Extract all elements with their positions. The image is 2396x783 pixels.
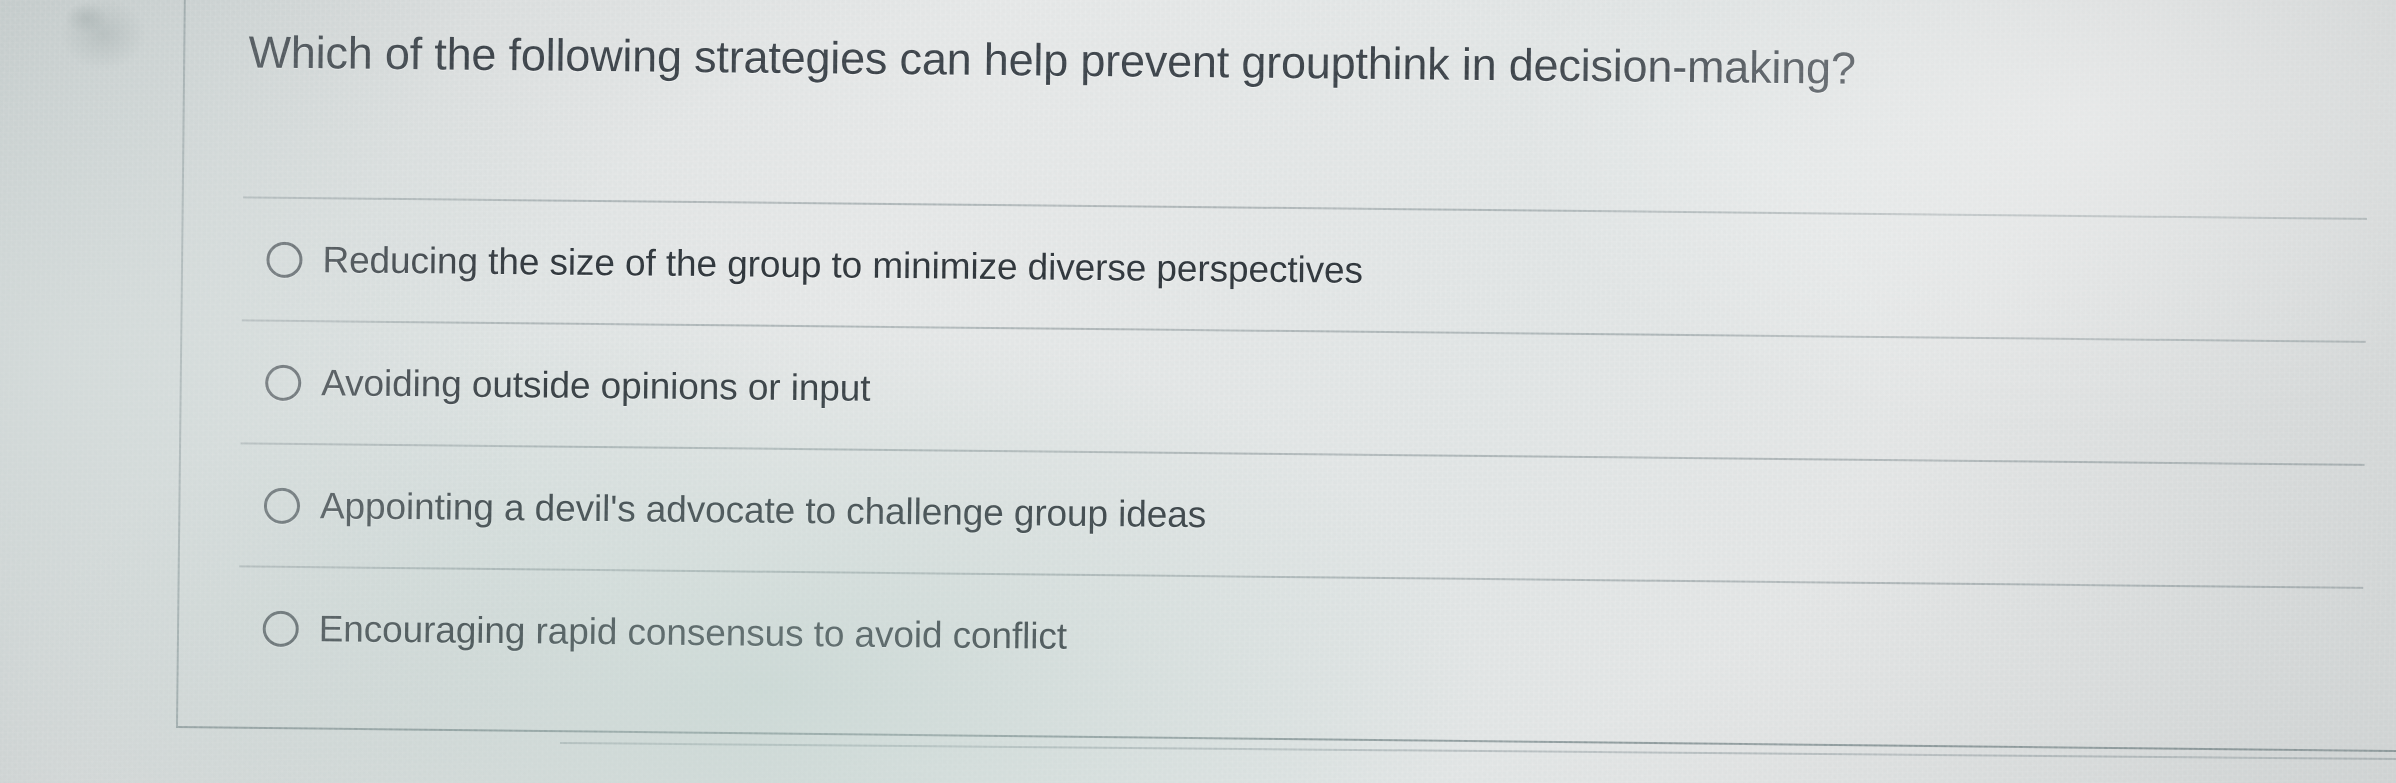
radio-button-icon-a[interactable] <box>266 241 302 277</box>
radio-button-icon-d[interactable] <box>263 610 299 646</box>
answer-option-b[interactable]: Avoiding outside opinions or input <box>241 321 2366 463</box>
answer-option-d[interactable]: Encouraging rapid consensus to avoid con… <box>238 567 2363 709</box>
answer-option-a[interactable]: Reducing the size of the group to minimi… <box>242 198 2367 340</box>
answer-option-label-a: Reducing the size of the group to minimi… <box>322 238 1363 293</box>
answer-options-list: Reducing the size of the group to minimi… <box>238 196 2367 709</box>
card-content: Which of the following strategies can he… <box>0 0 2396 783</box>
answer-option-label-b: Avoiding outside opinions or input <box>321 361 871 411</box>
answer-option-label-c: Appointing a devil's advocate to challen… <box>320 484 1207 537</box>
radio-button-icon-c[interactable] <box>264 487 300 523</box>
radio-button-icon-b[interactable] <box>265 364 301 400</box>
question-text: Which of the following strategies can he… <box>248 22 2348 103</box>
quiz-screenshot: Which of the following strategies can he… <box>0 0 2396 783</box>
answer-option-c[interactable]: Appointing a devil's advocate to challen… <box>239 444 2364 586</box>
answer-option-label-d: Encouraging rapid consensus to avoid con… <box>319 607 1068 659</box>
